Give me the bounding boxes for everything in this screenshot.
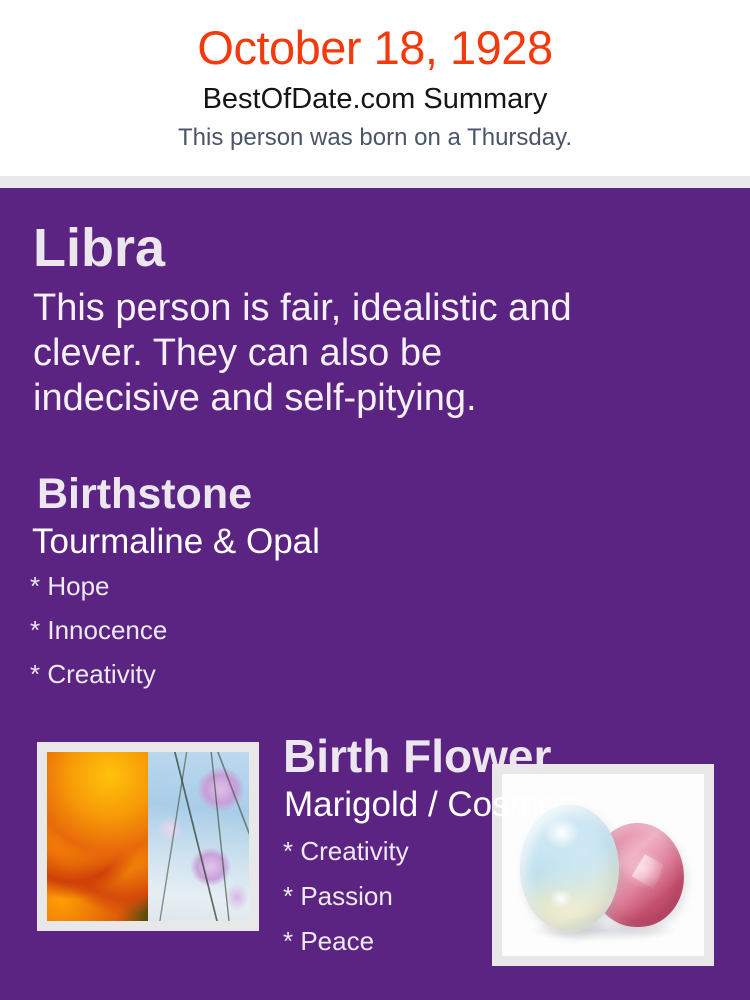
list-item: * Hope (30, 573, 470, 617)
opal-gem-icon (520, 805, 619, 932)
site-subtitle: BestOfDate.com Summary (0, 71, 750, 114)
weekday-note: This person was born on a Thursday. (0, 114, 750, 150)
birthstone-text-column: Birthstone Tourmaline & Opal * Hope * In… (0, 473, 470, 705)
list-item: * Peace (283, 928, 740, 973)
birthstone-heading: Birthstone (0, 473, 470, 516)
cosmos-stems-overlay (148, 752, 249, 921)
marigold-photo-icon (47, 752, 148, 921)
birth-flower-value: Marigold / Cosmos (270, 779, 740, 822)
list-item: * Innocence (30, 617, 470, 661)
birthstone-value: Tourmaline & Opal (0, 516, 470, 559)
date-summary-card: October 18, 1928 BestOfDate.com Summary … (0, 0, 750, 1000)
zodiac-sign-name: Libra (33, 221, 633, 275)
zodiac-section: Libra This person is fair, idealistic an… (33, 221, 633, 420)
birth-flower-image-frame (37, 742, 259, 931)
birthstone-section: Birthstone Tourmaline & Opal * Hope * In… (0, 473, 750, 693)
content-panel: Libra This person is fair, idealistic an… (0, 188, 750, 1000)
birthstone-traits-list: * Hope * Innocence * Creativity (0, 559, 470, 705)
page-title: October 18, 1928 (0, 0, 750, 71)
birth-flower-heading: Birth Flower (270, 733, 740, 779)
zodiac-description: This person is fair, idealistic and clev… (33, 275, 603, 420)
list-item: * Creativity (30, 661, 470, 705)
birth-flower-image (47, 752, 249, 921)
card-header: October 18, 1928 BestOfDate.com Summary … (0, 0, 750, 176)
header-divider (0, 176, 750, 188)
